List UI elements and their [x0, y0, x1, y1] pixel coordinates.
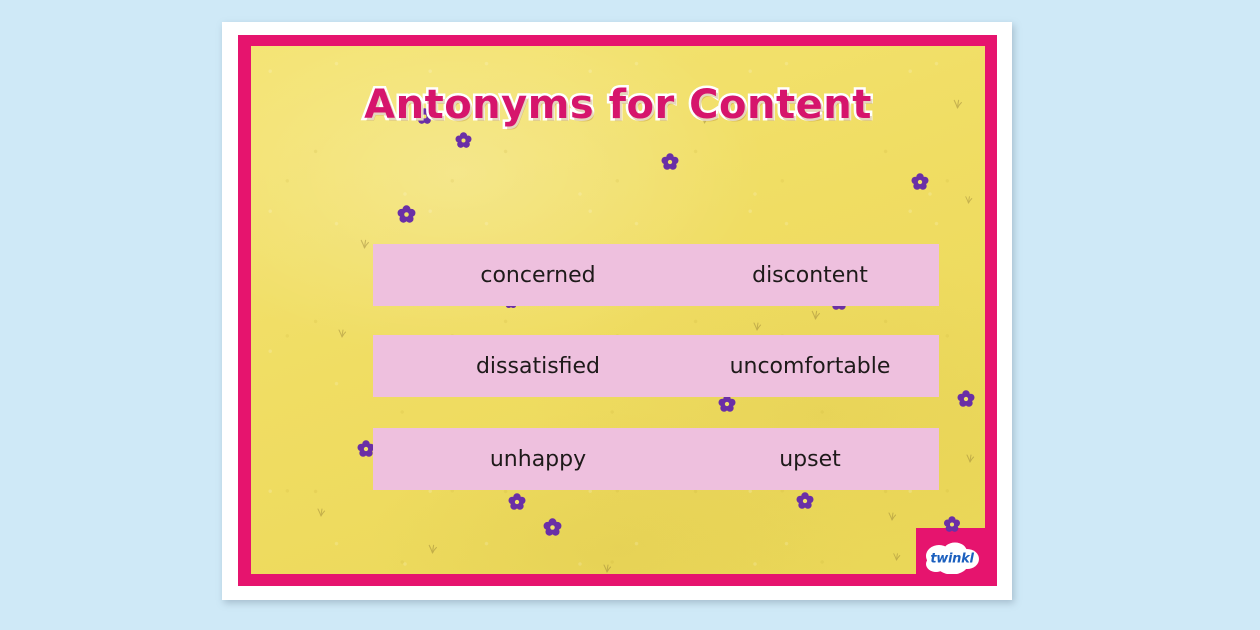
word-left: unhappy [373, 447, 703, 472]
flower-icon [543, 518, 562, 541]
word-left: concerned [373, 263, 703, 288]
grass-tuft-icon [963, 189, 974, 208]
twinkl-logo[interactable]: twinkl [916, 528, 985, 574]
twinkl-wordmark: twinkl [922, 552, 982, 567]
word-row: dissatisfied uncomfortable [373, 335, 939, 397]
cloud-icon: twinkl [922, 542, 982, 574]
flower-icon [796, 492, 814, 514]
page-title: Antonyms for Content [251, 82, 985, 128]
poster-body: Antonyms for Content concerned disconten… [251, 46, 985, 574]
grass-tuft-icon [891, 546, 902, 565]
grass-tuft-icon [358, 234, 371, 253]
grass-tuft-icon [886, 506, 898, 525]
grass-tuft-icon [601, 558, 613, 574]
flower-icon [911, 173, 929, 195]
poster-paper-frame: Antonyms for Content concerned disconten… [222, 22, 1012, 600]
grass-tuft-icon [336, 323, 348, 342]
word-right: upset [703, 447, 939, 472]
word-right: discontent [703, 263, 939, 288]
word-row: concerned discontent [373, 244, 939, 306]
grass-tuft-icon [964, 448, 976, 467]
word-left: dissatisfied [373, 354, 703, 379]
grass-tuft-icon [426, 539, 439, 558]
grass-tuft-icon [809, 305, 822, 324]
flower-icon [718, 395, 736, 417]
flower-icon [661, 153, 679, 175]
grass-tuft-icon [315, 502, 327, 521]
flower-icon [397, 205, 416, 228]
flower-icon [455, 132, 472, 153]
flower-icon [944, 516, 961, 537]
poster-canvas: Antonyms for Content concerned disconten… [0, 0, 1260, 630]
poster-border: Antonyms for Content concerned disconten… [238, 35, 997, 586]
grass-tuft-icon [751, 316, 763, 335]
word-row: unhappy upset [373, 428, 939, 490]
flower-icon [508, 493, 526, 515]
word-right: uncomfortable [703, 354, 939, 379]
flower-icon [957, 390, 975, 412]
